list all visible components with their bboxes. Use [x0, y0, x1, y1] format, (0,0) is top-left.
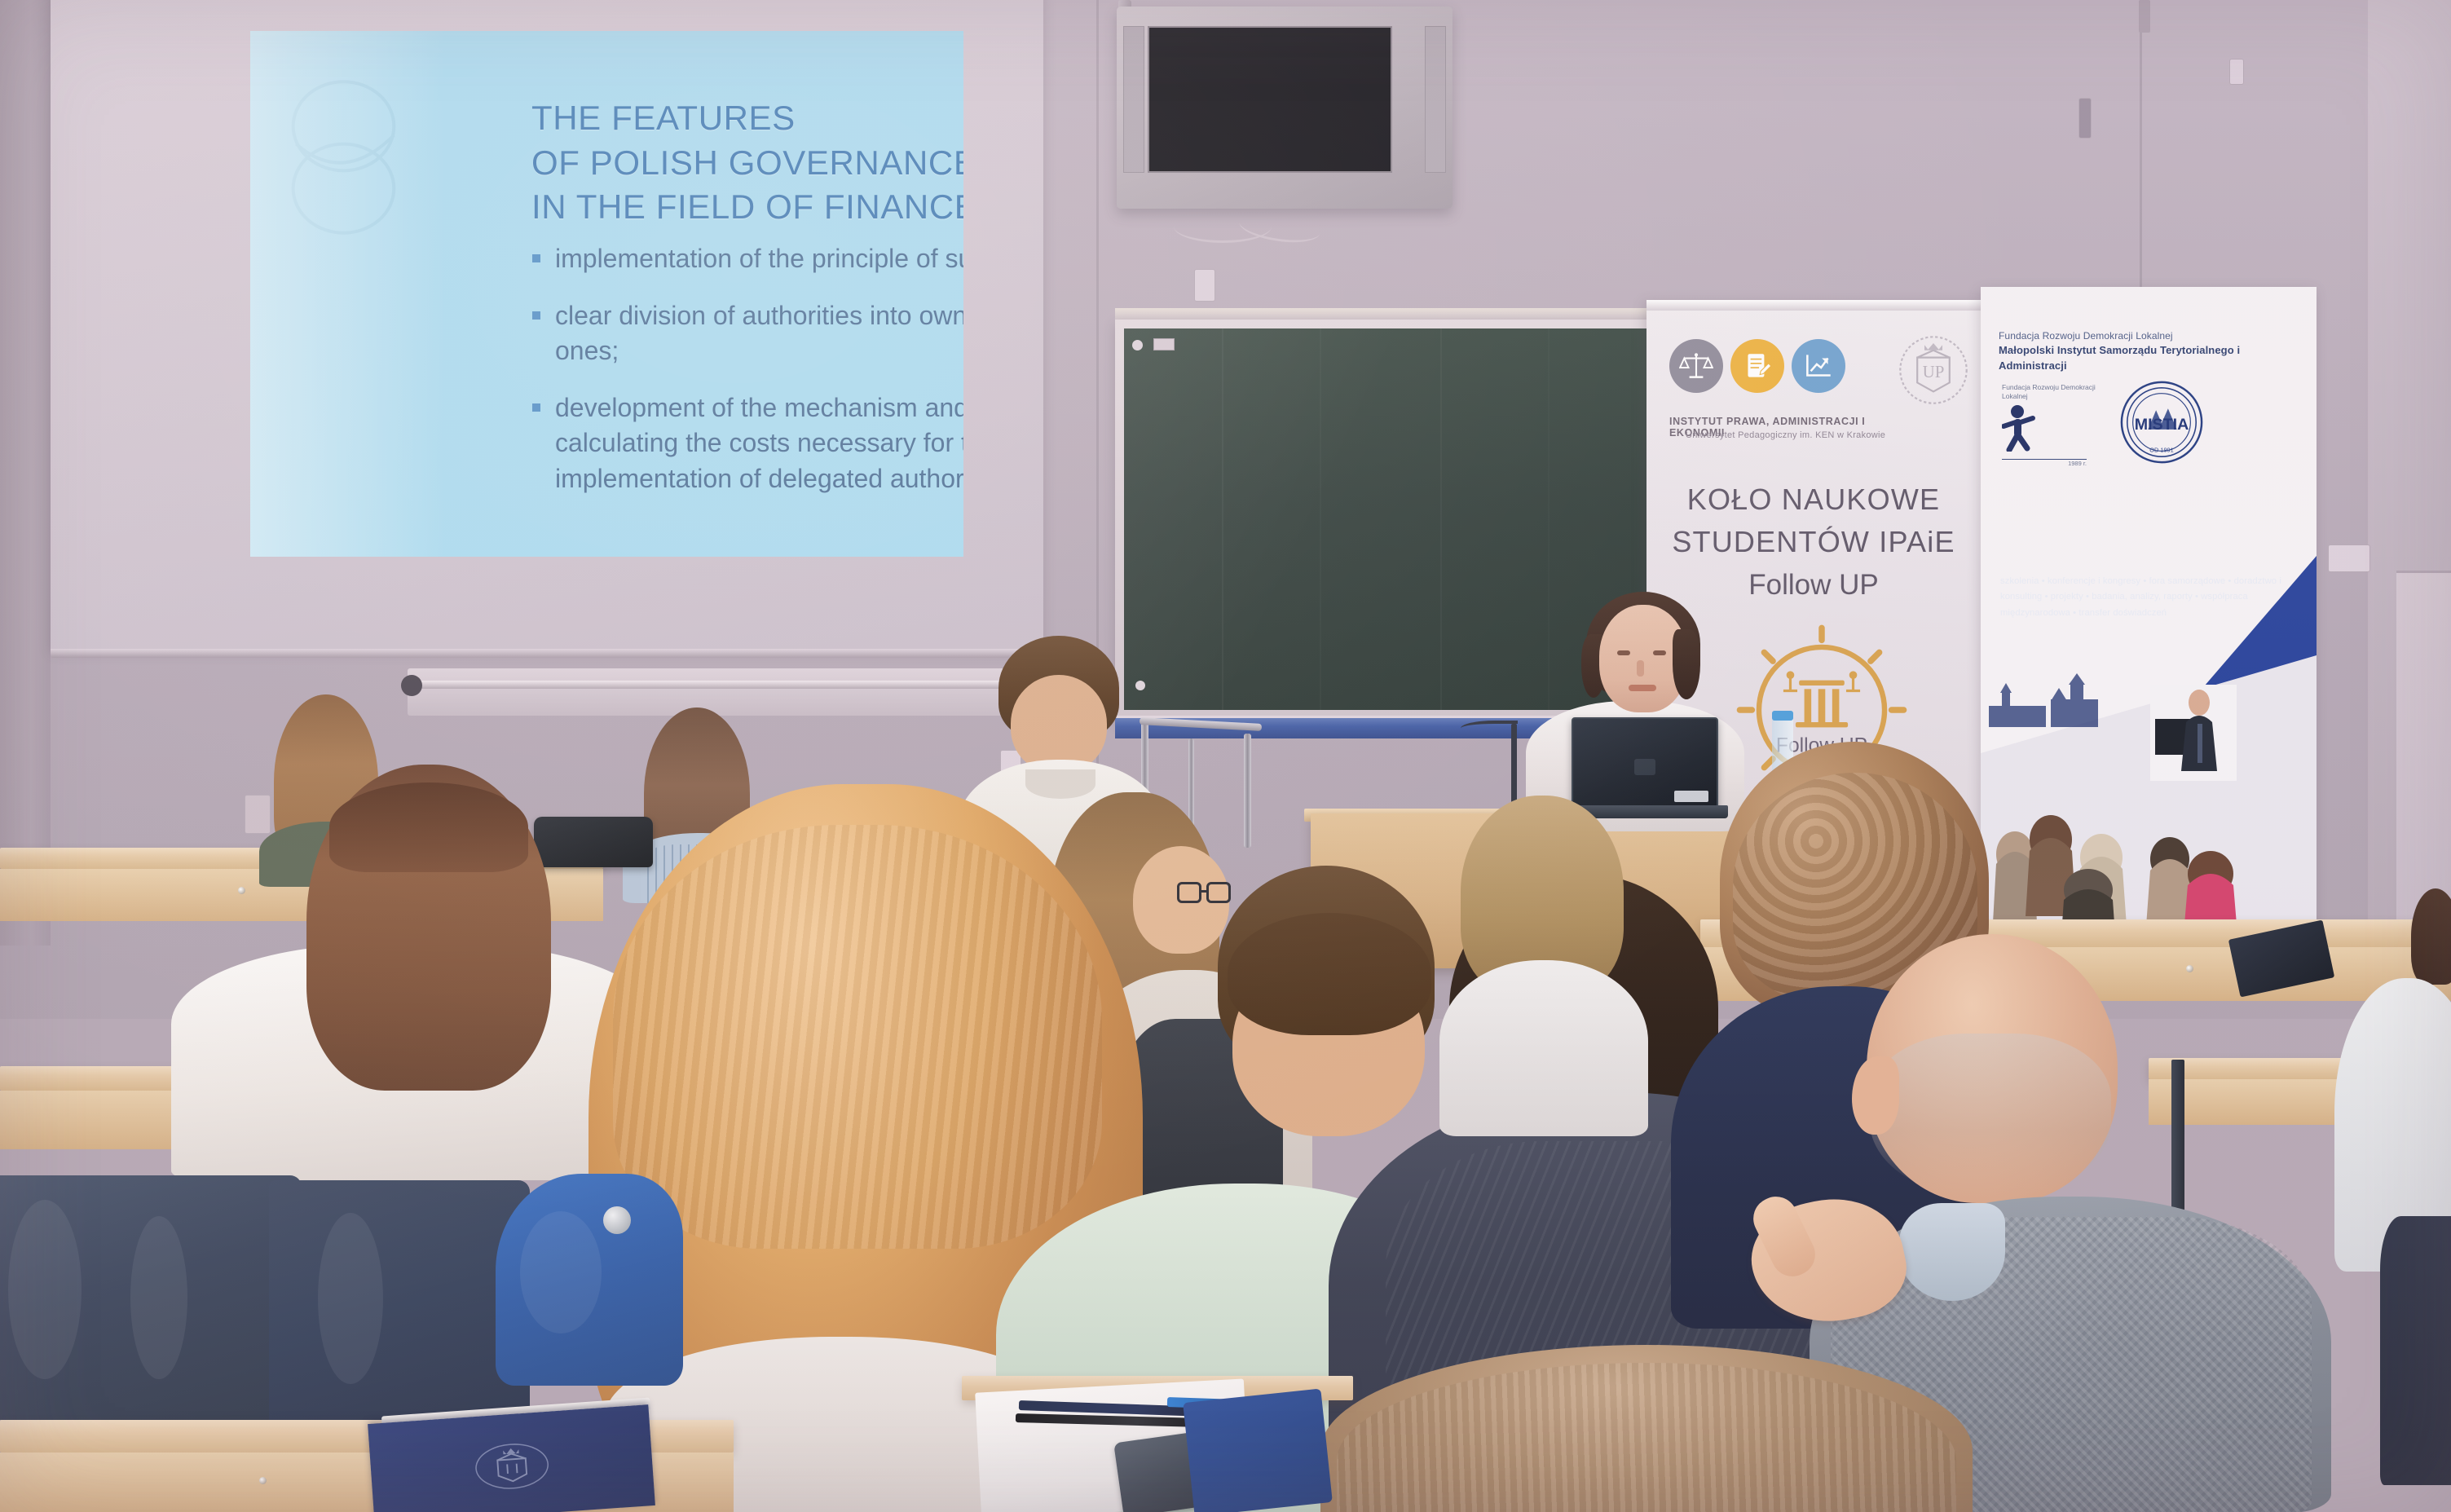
slide-bullet-list: implementation of the principle of subsi…	[527, 241, 963, 518]
walking-figure-icon	[2002, 404, 2044, 452]
banner-heading-line-2: STUDENTÓW IPAiE	[1646, 525, 1981, 559]
university-crest-icon: UP	[1898, 334, 1969, 406]
banner-org-line-1: Fundacja Rozwoju Demokracji Lokalnej	[1999, 329, 2307, 343]
mistia-logo-text: MISTIA	[2135, 416, 2189, 434]
banner-org-line-2: Małopolski Instytut Samorządu Terytorial…	[1999, 343, 2307, 374]
tv-speaker-right	[1425, 26, 1446, 173]
desk-screw	[259, 1477, 267, 1484]
slide-watermark-logo	[268, 76, 419, 239]
banner-icon-row	[1669, 339, 1845, 393]
ceiling-conduit	[2139, 0, 2150, 33]
draped-jacket-2	[269, 1180, 530, 1425]
frdl-logo-text: Fundacja Rozwoju Demokracji Lokalnej	[2002, 383, 2100, 401]
growth-chart-icon	[1792, 339, 1845, 393]
banner-organization-title: Fundacja Rozwoju Demokracji Lokalnej Mał…	[1999, 329, 2307, 374]
wall-vent-icon	[2079, 98, 2092, 139]
folder-crest-icon	[471, 1439, 553, 1494]
tv-speaker-left	[1123, 26, 1144, 173]
scales-of-justice-icon	[1669, 339, 1723, 393]
left-wall-column	[0, 0, 51, 946]
conference-folder[interactable]	[368, 1404, 655, 1512]
desk-screw	[2186, 965, 2193, 972]
wall-mounted-tv[interactable]	[1117, 7, 1453, 209]
banner-top-rail	[1646, 300, 1981, 311]
shirt-collar	[1025, 769, 1095, 799]
board-magnet	[1132, 340, 1143, 350]
stand-post-right	[1244, 734, 1251, 848]
slide-title-line-1: THE FEATURES	[531, 96, 963, 141]
side-whiteboard	[408, 668, 1027, 716]
presentation-slide: THE FEATURES OF POLISH GOVERNANCE IN THE…	[250, 31, 963, 557]
ear	[1852, 1056, 1899, 1135]
tv-screen	[1148, 26, 1392, 173]
grey-hair	[1870, 1034, 2111, 1197]
slide-bullet-3: development of the mechanism and procedu…	[527, 390, 963, 497]
microphone-stand	[1511, 724, 1517, 809]
mistia-logo-sub: OD 1991	[2149, 446, 2173, 453]
blue-notebook[interactable]	[1183, 1388, 1333, 1512]
wall-bracket-icon	[2229, 59, 2244, 85]
slide-bullet-1: implementation of the principle of subsi…	[527, 241, 963, 277]
attendee-dark-top	[2380, 1216, 2451, 1485]
student-hair	[2411, 888, 2451, 985]
lecture-hall-photo: THE FEATURES OF POLISH GOVERNANCE IN THE…	[0, 0, 2451, 1512]
laptop-logo-icon	[1634, 759, 1655, 775]
draped-jacket-1	[0, 1175, 302, 1420]
svg-text:UP: UP	[1923, 362, 1945, 381]
chalkboard-surface	[1124, 328, 1660, 710]
banner-university-name: Uniwersytet Pedagogiczny im. KEN w Krako…	[1686, 430, 1930, 440]
mistia-logo-icon: MISTIA OD 1991	[2118, 378, 2206, 466]
rollup-banner-mistia: Fundacja Rozwoju Demokracji Lokalnej Mał…	[1981, 287, 2317, 946]
side-whiteboard-rail	[417, 681, 1021, 689]
glasses-icon	[1177, 882, 1231, 905]
laptop-sticker	[1674, 791, 1708, 802]
projection-screen: THE FEATURES OF POLISH GOVERNANCE IN THE…	[51, 0, 1043, 649]
shirt-collar	[1899, 1203, 2005, 1301]
frdl-logo: Fundacja Rozwoju Demokracji Lokalnej 198…	[2002, 383, 2100, 467]
banner-photo-collage	[1981, 655, 2317, 946]
water-bottle-cap	[1772, 711, 1793, 721]
document-pen-icon	[1730, 339, 1784, 393]
leather-bag	[534, 817, 653, 867]
banner-services-list: szkolenia • konferencje i kongresy • for…	[2000, 574, 2303, 621]
microphone-boom	[1461, 721, 1518, 734]
projection-screen-bottom-bar	[51, 649, 1053, 658]
desk-screw	[238, 887, 245, 894]
slide-title: THE FEATURES OF POLISH GOVERNANCE IN THE…	[531, 96, 963, 230]
frdl-founding-year: 1989 r.	[2002, 460, 2087, 467]
board-magnet	[1135, 681, 1145, 690]
banner-heading-line-1: KOŁO NAUKOWE	[1646, 483, 1981, 517]
side-whiteboard-knob[interactable]	[401, 675, 422, 696]
wall-socket[interactable]	[1194, 269, 1215, 302]
slide-bullet-2: clear division of authorities into own a…	[527, 298, 963, 369]
desk-leg	[2171, 1060, 2184, 1226]
jacket-buckle	[603, 1206, 631, 1234]
slide-title-line-3: IN THE FIELD OF FINANCE	[531, 185, 963, 230]
board-note-card	[1153, 338, 1175, 350]
wall-plate	[245, 795, 271, 834]
draped-jacket-3	[496, 1174, 683, 1386]
light-switch[interactable]	[2328, 544, 2370, 572]
banner-heading-line-3: Follow UP	[1646, 569, 1981, 602]
presenter-hair-right	[1673, 629, 1700, 699]
presenter-laptop[interactable]	[1572, 717, 1718, 809]
slide-title-line-2: OF POLISH GOVERNANCE	[531, 141, 963, 186]
